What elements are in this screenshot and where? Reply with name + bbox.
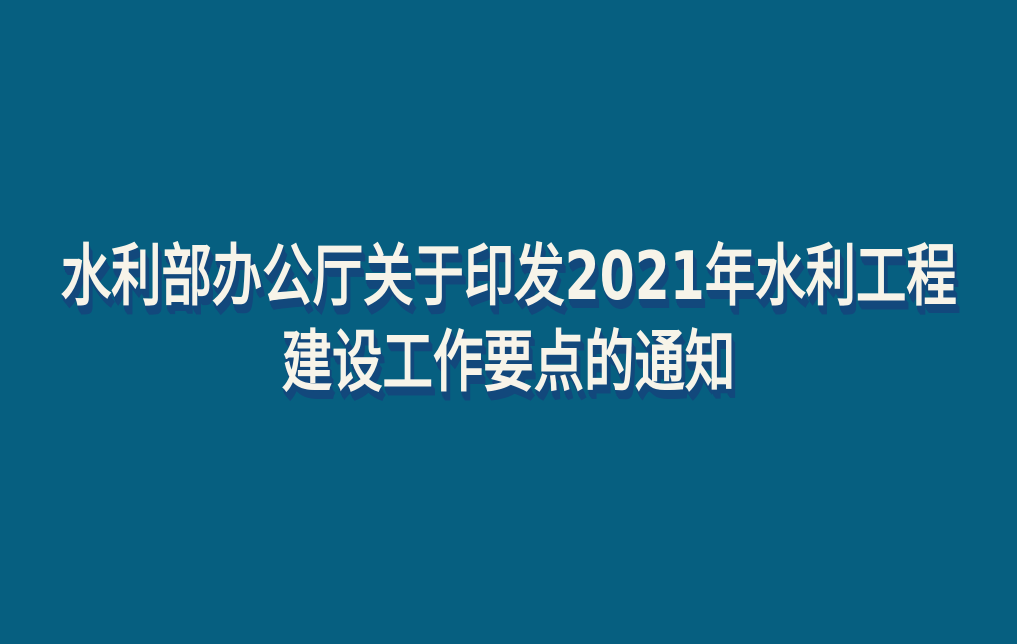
title-card: 水利部办公厅关于印发2021年水利工程 建设工作要点的通知 (0, 0, 1017, 644)
title-line-1: 水利部办公厅关于印发2021年水利工程 (61, 240, 957, 312)
headline-block: 水利部办公厅关于印发2021年水利工程 建设工作要点的通知 (0, 240, 1017, 399)
title-line-2: 建设工作要点的通知 (282, 326, 735, 398)
